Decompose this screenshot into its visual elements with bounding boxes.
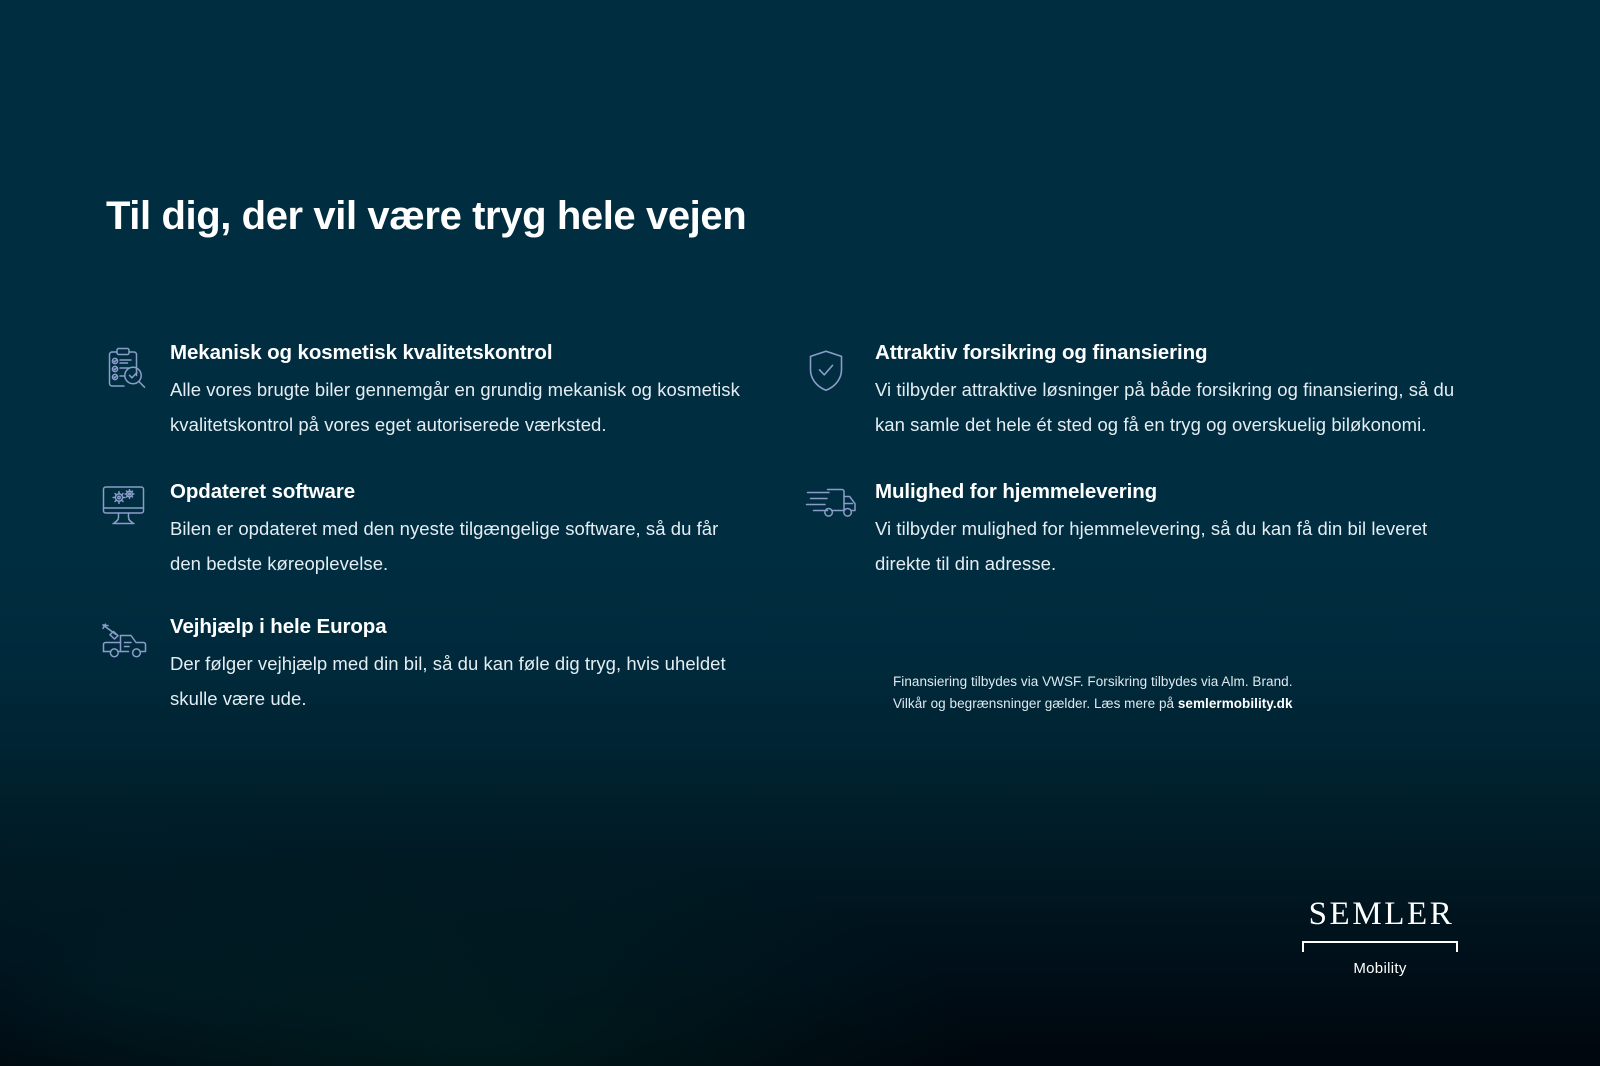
- disclaimer-text: Finansiering tilbydes via VWSF. Forsikri…: [893, 671, 1453, 715]
- feature-insurance-financing: Attraktiv forsikring og finansiering Vi …: [805, 340, 1465, 442]
- disclaimer-line-2-prefix: Vilkår og begrænsninger gælder. Læs mere…: [893, 696, 1178, 711]
- feature-title: Opdateret software: [170, 480, 740, 504]
- feature-description: Der følger vejhjælp med din bil, så du k…: [170, 646, 740, 716]
- feature-text: Attraktiv forsikring og finansiering Vi …: [875, 340, 1465, 442]
- feature-description: Bilen er opdateret med den nyeste tilgæn…: [170, 511, 740, 581]
- feature-title: Attraktiv forsikring og finansiering: [875, 341, 1465, 365]
- logo-subtitle: Mobility: [1302, 960, 1458, 977]
- feature-text: Vejhjælp i hele Europa Der følger vejhjæ…: [170, 614, 740, 716]
- monitor-gears-icon: [100, 479, 170, 535]
- feature-text: Mulighed for hjemmelevering Vi tilbyder …: [875, 479, 1465, 581]
- disclaimer-line-2: Vilkår og begrænsninger gælder. Læs mere…: [893, 693, 1453, 715]
- semler-mobility-logo: SEMLER Mobility: [1302, 898, 1458, 977]
- promo-panel: Til dig, der vil være tryg hele vejen: [0, 0, 1600, 1066]
- feature-updated-software: Opdateret software Bilen er opdateret me…: [100, 479, 740, 581]
- disclaimer-line-1: Finansiering tilbydes via VWSF. Forsikri…: [893, 671, 1453, 693]
- logo-rule-bar: [1302, 941, 1458, 943]
- feature-description: Alle vores brugte biler gennemgår en gru…: [170, 372, 740, 442]
- logo-rule-tick-left: [1302, 941, 1304, 952]
- feature-description: Vi tilbyder mulighed for hjemmelevering,…: [875, 511, 1465, 581]
- feature-home-delivery: Mulighed for hjemmelevering Vi tilbyder …: [805, 479, 1465, 581]
- feature-column-right: Attraktiv forsikring og finansiering Vi …: [805, 340, 1465, 581]
- clipboard-check-magnifier-icon: [100, 340, 170, 396]
- shield-check-icon: [805, 340, 875, 396]
- tow-truck-icon: [100, 614, 170, 670]
- feature-title: Vejhjælp i hele Europa: [170, 615, 740, 639]
- semlermobility-link[interactable]: semlermobility.dk: [1178, 696, 1293, 711]
- feature-description: Vi tilbyder attraktive løsninger på både…: [875, 372, 1465, 442]
- page-title: Til dig, der vil være tryg hele vejen: [106, 194, 746, 239]
- feature-quality-control: Mekanisk og kosmetisk kvalitetskontrol A…: [100, 340, 740, 442]
- feature-title: Mulighed for hjemmelevering: [875, 480, 1465, 504]
- logo-wordmark: SEMLER: [1302, 898, 1458, 931]
- feature-text: Opdateret software Bilen er opdateret me…: [170, 479, 740, 581]
- feature-title: Mekanisk og kosmetisk kvalitetskontrol: [170, 341, 740, 365]
- delivery-truck-icon: [805, 479, 875, 535]
- logo-rule-tick-right: [1456, 941, 1458, 952]
- feature-column-left: Mekanisk og kosmetisk kvalitetskontrol A…: [100, 340, 740, 716]
- feature-text: Mekanisk og kosmetisk kvalitetskontrol A…: [170, 340, 740, 442]
- logo-divider-rule: [1302, 941, 1458, 955]
- feature-roadside-assistance: Vejhjælp i hele Europa Der følger vejhjæ…: [100, 614, 740, 716]
